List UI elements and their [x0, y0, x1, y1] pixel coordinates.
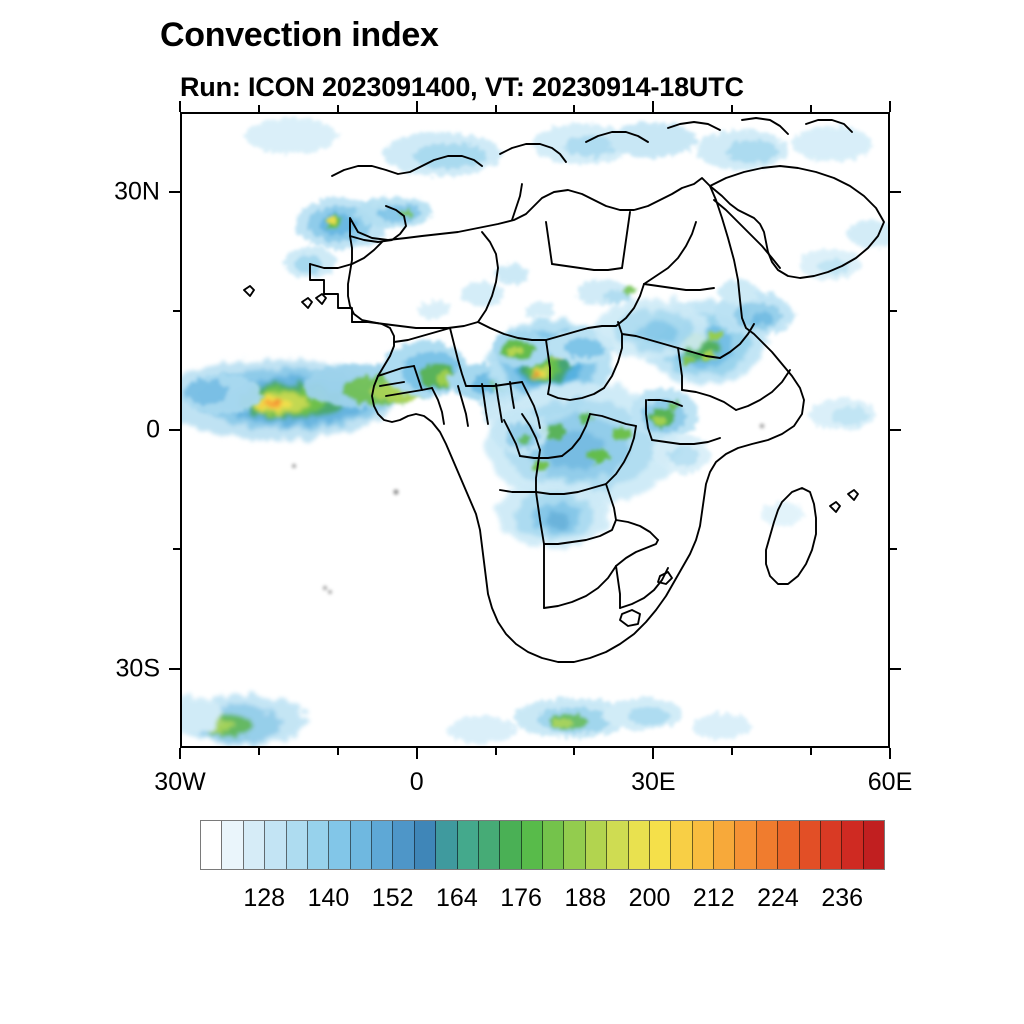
x-axis-tick [731, 748, 733, 755]
colorbar-cell [629, 821, 650, 869]
x-axis-tick [573, 748, 575, 755]
page-title: Convection index [160, 16, 439, 55]
x-axis-tick [652, 748, 654, 759]
y-axis-tick [169, 668, 180, 670]
x-axis-tick-top [495, 105, 497, 112]
colorbar-tick-label: 236 [821, 884, 863, 913]
x-axis-label: 0 [410, 768, 424, 797]
y-axis-tick [173, 548, 180, 550]
x-axis-tick [810, 748, 812, 755]
colorbar-cell [693, 821, 714, 869]
colorbar-cell [864, 821, 884, 869]
y-axis-tick [169, 429, 180, 431]
y-axis-label: 30S [0, 654, 160, 683]
colorbar-cell [308, 821, 329, 869]
colorbar-cell [778, 821, 799, 869]
colorbar-cell [500, 821, 521, 869]
colorbar-cell [586, 821, 607, 869]
x-axis-tick-top [179, 101, 181, 112]
colorbar-cell [714, 821, 735, 869]
colorbar-cell [244, 821, 265, 869]
colorbar-tick-label: 152 [372, 884, 414, 913]
y-axis-tick-right [890, 310, 897, 312]
x-axis-tick [416, 748, 418, 759]
x-axis-tick [258, 748, 260, 755]
colorbar-cell [564, 821, 585, 869]
colorbar-tick-label: 176 [500, 884, 542, 913]
y-axis-label: 30N [0, 177, 160, 206]
x-axis-tick-top [889, 101, 891, 112]
figure-canvas: Convection index Run: ICON 2023091400, V… [0, 0, 1024, 1024]
colorbar-cell [351, 821, 372, 869]
figure-subtitle: Run: ICON 2023091400, VT: 20230914-18UTC [180, 72, 744, 103]
colorbar-cell [479, 821, 500, 869]
x-axis-tick-top [731, 105, 733, 112]
colorbar-cell [287, 821, 308, 869]
colorbar-cell [607, 821, 628, 869]
colorbar-tick-label: 224 [757, 884, 799, 913]
colorbar-cell [222, 821, 243, 869]
colorbar-tick-label: 140 [308, 884, 350, 913]
y-axis-tick [173, 310, 180, 312]
x-axis-tick-top [416, 101, 418, 112]
x-axis-label: 60E [868, 768, 912, 797]
x-axis-tick [179, 748, 181, 759]
colorbar-cell [842, 821, 863, 869]
colorbar-cell [265, 821, 286, 869]
colorbar-cell [671, 821, 692, 869]
colorbar-cell [543, 821, 564, 869]
colorbar-tick-label: 164 [436, 884, 478, 913]
x-axis-label: 30E [631, 768, 675, 797]
colorbar-cell [393, 821, 414, 869]
colorbar-cell [650, 821, 671, 869]
map-plot-area[interactable] [180, 112, 890, 748]
colorbar-cell [329, 821, 350, 869]
y-axis-tick-right [890, 668, 901, 670]
colorbar-cell [757, 821, 778, 869]
x-axis-tick-top [258, 105, 260, 112]
colorbar-cell [458, 821, 479, 869]
x-axis-tick [495, 748, 497, 755]
colorbar-cell [372, 821, 393, 869]
colorbar-tick-label: 212 [693, 884, 735, 913]
colorbar-cell [821, 821, 842, 869]
colorbar-cell [415, 821, 436, 869]
x-axis-tick [889, 748, 891, 759]
colorbar-cell [201, 821, 222, 869]
x-axis-label: 30W [154, 768, 205, 797]
colorbar[interactable] [200, 820, 885, 870]
colorbar-cell [522, 821, 543, 869]
colorbar-tick-label: 128 [243, 884, 285, 913]
y-axis-tick-right [890, 429, 901, 431]
y-axis-tick-right [890, 191, 901, 193]
x-axis-tick-top [652, 101, 654, 112]
x-axis-tick-top [573, 105, 575, 112]
y-axis-label: 0 [0, 416, 160, 445]
x-axis-tick [337, 748, 339, 755]
x-axis-tick-top [337, 105, 339, 112]
colorbar-cell [735, 821, 756, 869]
x-axis-tick-top [810, 105, 812, 112]
colorbar-tick-label: 200 [629, 884, 671, 913]
convection-index-map [182, 114, 888, 746]
colorbar-tick-label: 188 [564, 884, 606, 913]
y-axis-tick-right [890, 548, 897, 550]
colorbar-cell [436, 821, 457, 869]
colorbar-cell [800, 821, 821, 869]
y-axis-tick [169, 191, 180, 193]
